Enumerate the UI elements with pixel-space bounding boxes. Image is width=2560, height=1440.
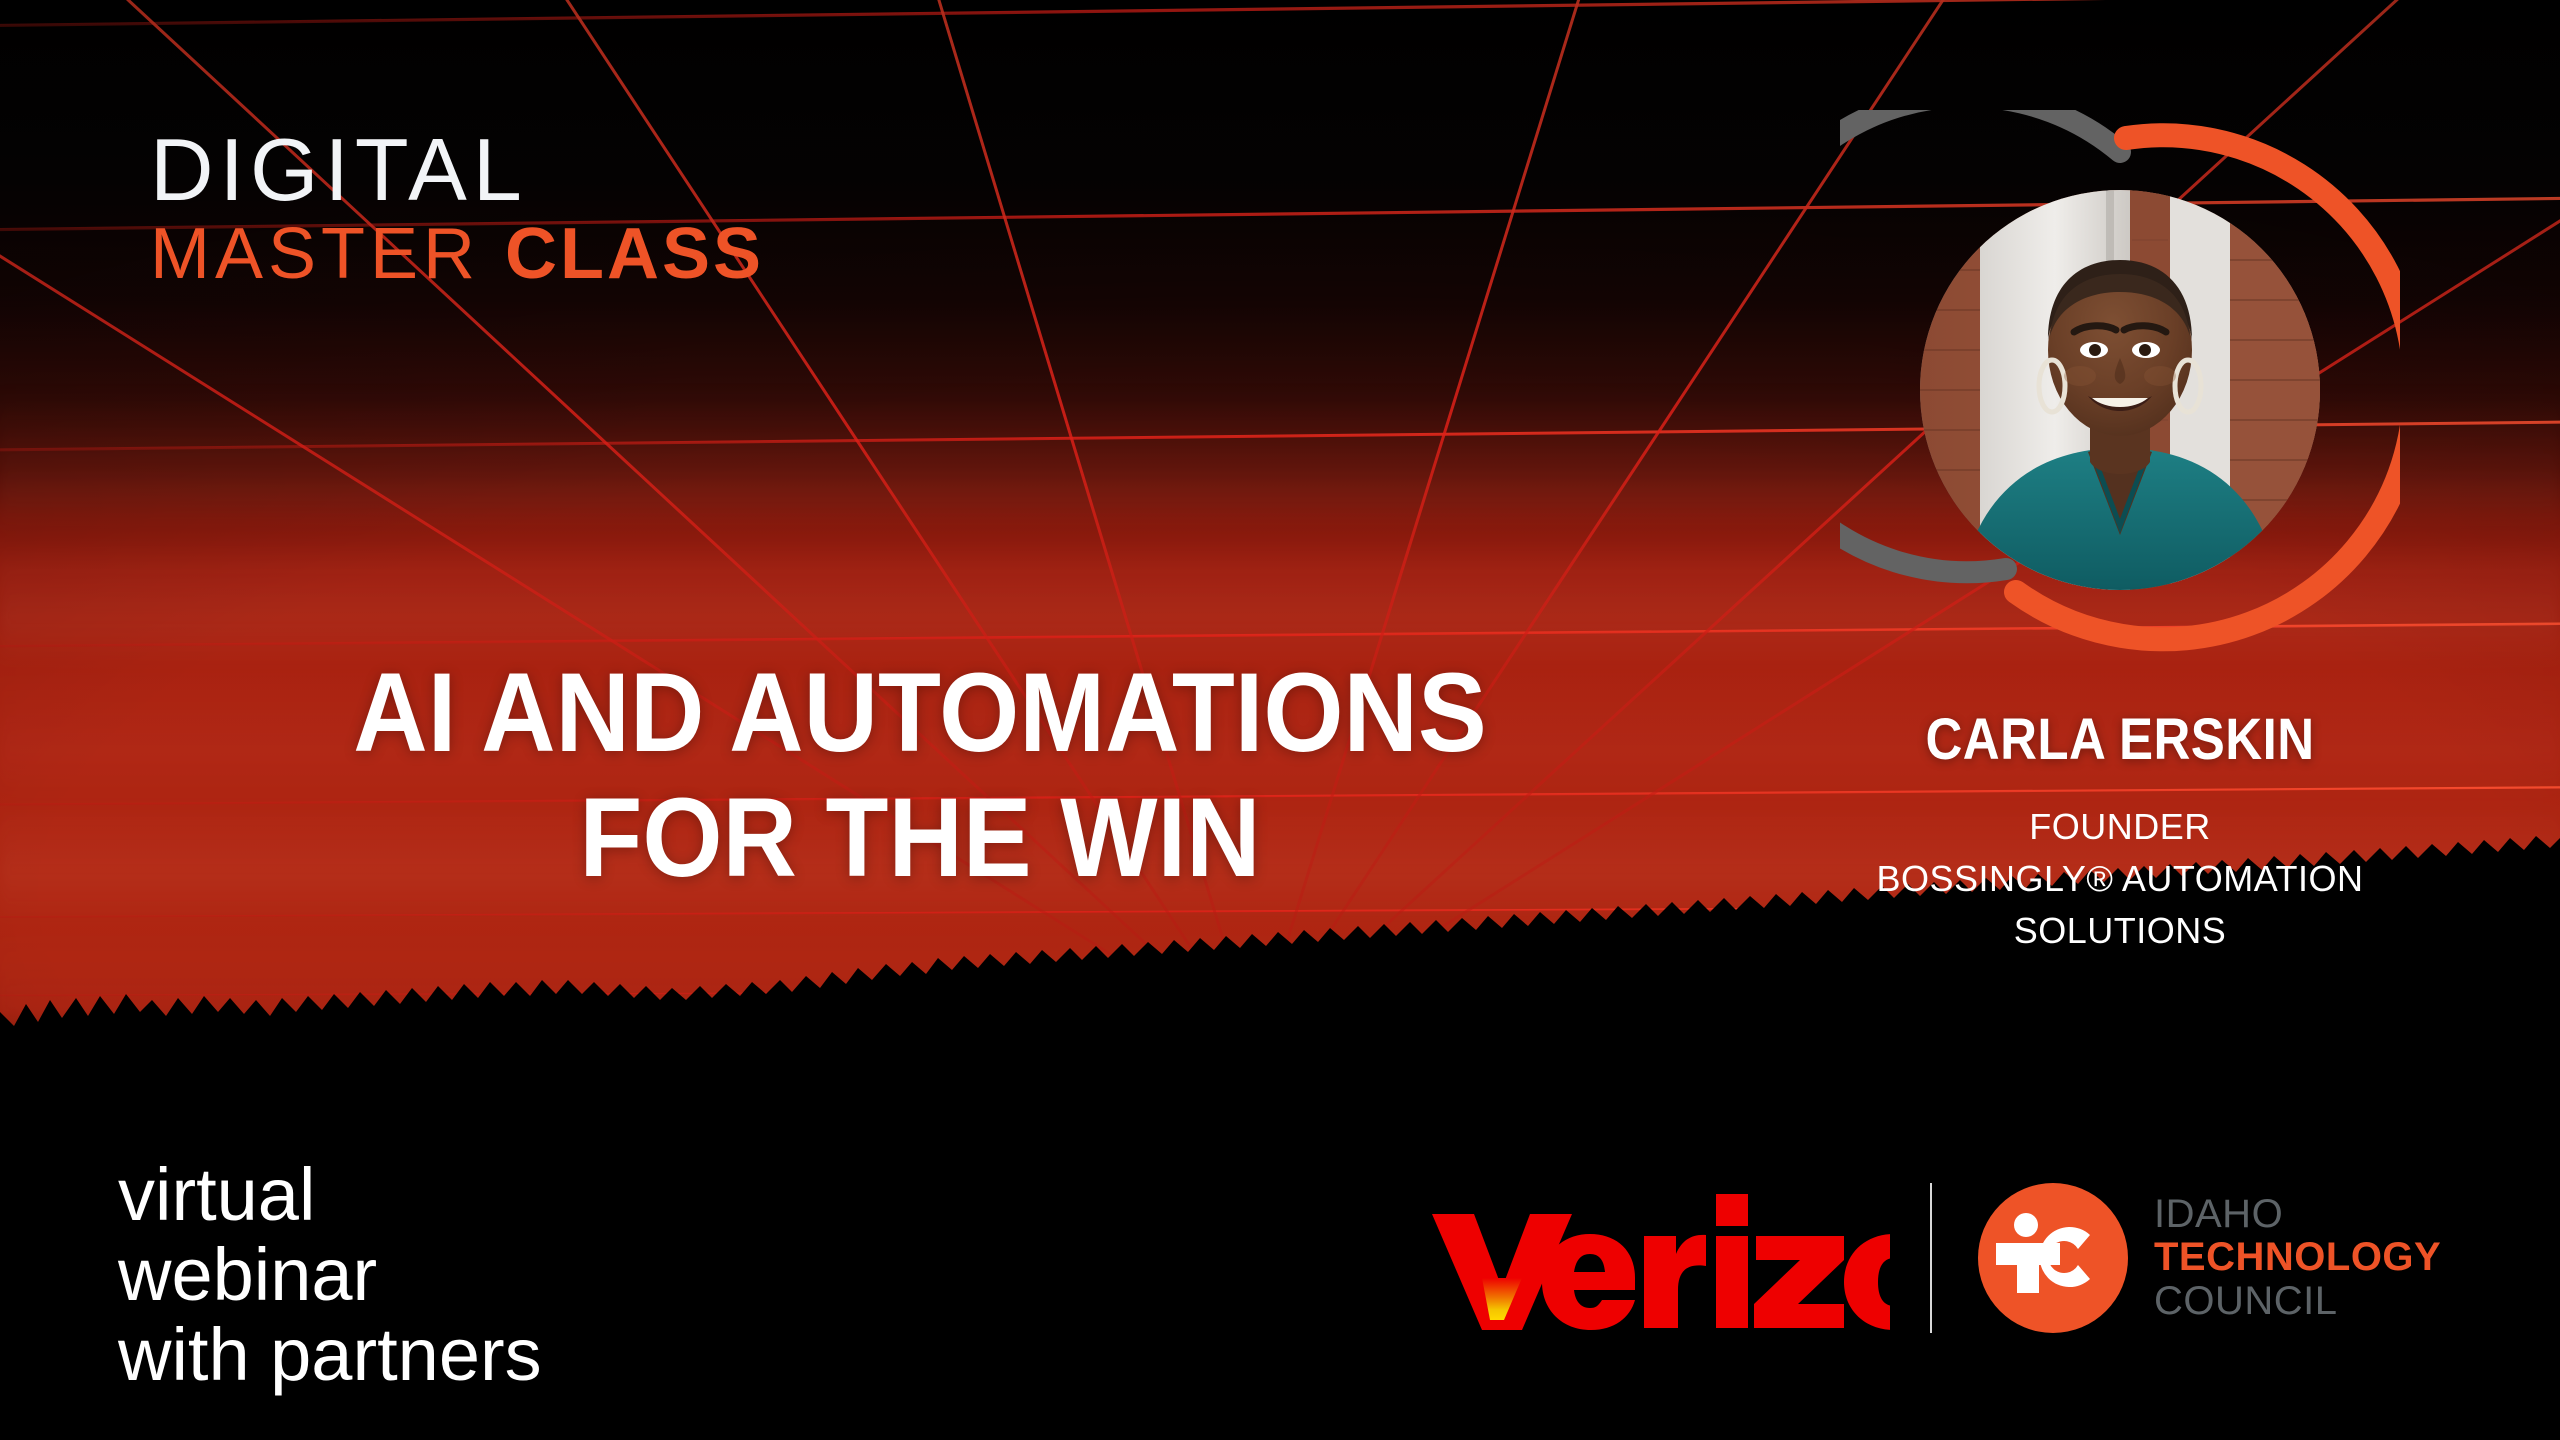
itc-word-council: COUNCIL bbox=[2154, 1280, 2441, 1323]
speaker-block: CARLA ERSKIN FOUNDER BOSSINGLY® AUTOMATI… bbox=[1790, 110, 2450, 958]
ring-arc-orange bbox=[2016, 135, 2400, 639]
logo-divider bbox=[1930, 1183, 1932, 1333]
headline-line-1: AI AND AUTOMATIONS bbox=[184, 650, 1656, 775]
kicker-line-3: with partners bbox=[118, 1318, 542, 1392]
brand-word-class: CLASS bbox=[505, 214, 764, 294]
speaker-name: CARLA ERSKIN bbox=[1830, 706, 2411, 773]
brand-subtitle-master-class: MASTER CLASS bbox=[150, 218, 764, 290]
partner-logo-bar: IDAHO TECHNOLOGY COUNCIL bbox=[1430, 1178, 2441, 1338]
speaker-portrait bbox=[1840, 110, 2400, 670]
itc-mark-icon bbox=[1978, 1183, 2128, 1333]
brand-title-digital: DIGITAL bbox=[150, 128, 764, 212]
headline-line-2: FOR THE WIN bbox=[184, 775, 1656, 900]
brand-word-master: MASTER bbox=[150, 214, 480, 294]
idaho-technology-council-logo: IDAHO TECHNOLOGY COUNCIL bbox=[1978, 1183, 2441, 1333]
event-format-kicker: virtual webinar with partners bbox=[118, 1158, 542, 1398]
verizon-logo bbox=[1430, 1178, 1890, 1338]
speaker-role: FOUNDER BOSSINGLY® AUTOMATION SOLUTIONS bbox=[1790, 801, 2450, 958]
verizon-wordmark bbox=[1430, 1178, 1890, 1338]
session-headline: AI AND AUTOMATIONS FOR THE WIN bbox=[120, 650, 1720, 901]
itc-word-idaho: IDAHO bbox=[2154, 1193, 2441, 1236]
ring-arc-grey bbox=[1840, 110, 2120, 572]
speaker-role-line-1: FOUNDER bbox=[1790, 801, 2450, 853]
itc-wordmark: IDAHO TECHNOLOGY COUNCIL bbox=[2154, 1193, 2441, 1323]
itc-word-technology: TECHNOLOGY bbox=[2154, 1236, 2441, 1279]
speaker-role-line-3: SOLUTIONS bbox=[1790, 905, 2450, 957]
portrait-ring-decoration bbox=[1840, 110, 2400, 670]
webinar-promo-poster: DIGITAL MASTER CLASS AI AND AUTOMATIONS … bbox=[0, 0, 2560, 1440]
kicker-line-1: virtual bbox=[118, 1158, 542, 1232]
speaker-role-line-2: BOSSINGLY® AUTOMATION bbox=[1790, 853, 2450, 905]
brand-lockup: DIGITAL MASTER CLASS bbox=[150, 128, 764, 290]
kicker-line-2: webinar bbox=[118, 1238, 542, 1312]
